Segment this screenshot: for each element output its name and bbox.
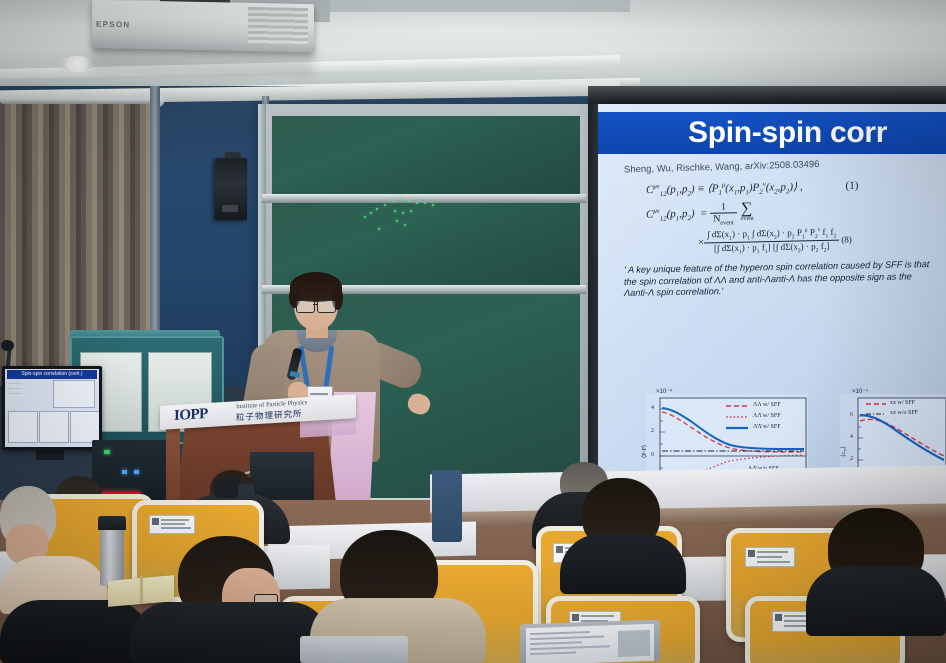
mini-chart-3 (70, 411, 99, 443)
projector-brand-label: EPSON (96, 20, 131, 30)
slide-title-text: Spin-spin corr (598, 112, 946, 154)
laptop-screen-thumbnail (618, 630, 650, 657)
eyeglasses-left-lens (296, 300, 315, 313)
chart-left-legend-2: Λ̄Λ̄ w/ SFF (753, 424, 781, 430)
speaker-logo (222, 205, 238, 212)
audience-shoulders-row2-right (806, 566, 946, 636)
iopp-logo: IOPP (174, 406, 208, 425)
thermos-flask[interactable] (100, 524, 124, 586)
thermos-cap[interactable] (98, 516, 126, 530)
chalkboard-panel-top (272, 116, 580, 194)
equation-8-line2: × ∫ dΣ(x1) · p1 ∫ dΣ(x2) · p2 P1μ P2ν f1… (698, 225, 946, 257)
chart-right-legend-0: xx w/ SFF (890, 400, 915, 406)
projector-vent (248, 7, 308, 46)
chart-right-ylabel: ⟨cₐₐ⟩ (840, 446, 847, 457)
equation-1: Cμν12(p1,p2) ≡ ⟨P1μ(x1,p1)P2ν(x2,p2)⟩ , … (646, 177, 946, 198)
audience-coat-left-dark (0, 600, 150, 663)
camera-device[interactable] (214, 478, 240, 498)
chart-left-legend-lines (726, 402, 750, 436)
slide-quote: ' A key unique feature of the hyperon sp… (624, 259, 930, 299)
chart-right-legend-lines (866, 400, 888, 422)
chair-tag-b2 (745, 547, 795, 567)
chair-tag-icon (748, 550, 755, 557)
presenter-monitor[interactable]: Spin-spin correlation (cont.) — — — — ——… (2, 366, 102, 450)
chair-tag-icon (572, 614, 579, 621)
audience-shoulders-row2-left (560, 534, 686, 594)
eyeglasses-bridge (313, 304, 318, 305)
laptop-secondary[interactable] (300, 636, 408, 663)
slide-reference: Sheng, Wu, Rischke, Wang, arXiv:2508.034… (624, 156, 946, 176)
institute-name-chinese: 粒子物理研究所 (236, 407, 303, 423)
projected-slide: Spin-spin corr Sheng, Wu, Rischke, Wang,… (598, 104, 946, 484)
presenter-monitor-title: Spin-spin correlation (cont.) (7, 370, 97, 379)
mini-chart-2 (39, 411, 69, 443)
ceiling-seam-2 (330, 0, 630, 12)
chair-tag-icon (152, 518, 159, 525)
equation-1-number: (1) (846, 180, 859, 192)
led-blue (122, 470, 127, 474)
led-green (104, 450, 110, 454)
monitor-stand (36, 450, 64, 460)
projection-screen-housing (588, 86, 946, 106)
mini-chart-top (53, 380, 95, 408)
chair-tag-icon (775, 614, 782, 621)
slide-title-bar: Spin-spin corr (598, 112, 946, 154)
equation-8-line1: Cμν12(p1,p2) = 1 Nevent ∑event (646, 197, 946, 228)
chart-left-legend-0: ΛΛ w/ SFF (753, 402, 781, 408)
curtain-rod (0, 98, 160, 104)
chair-tag-icon (556, 546, 563, 553)
presenter-monitor-screen: Spin-spin correlation (cont.) — — — — ——… (5, 369, 99, 447)
chair-tag-a2 (149, 515, 195, 534)
ceiling-downlight (60, 56, 94, 72)
notebook-spine (140, 576, 143, 604)
microphone-icon (1, 340, 14, 351)
chalk-writing (362, 194, 452, 232)
chart-right-legend-1: xx w/o SFF (890, 410, 918, 416)
standing-person-legs (432, 470, 462, 542)
laptop-screen (526, 624, 654, 663)
chart-left-ylabel: ⟨P·P⟩ (641, 445, 648, 458)
eyeglasses-right-lens (317, 300, 336, 313)
chart-right-exponent: ×10⁻⁴ (852, 388, 868, 395)
camera-lens (238, 484, 254, 498)
chart-left-legend-1: ΛΛ̄ w/ SFF (753, 413, 781, 419)
slide-body: Sheng, Wu, Rischke, Wang, arXiv:2508.034… (598, 154, 946, 484)
chart-left-exponent: ×10⁻⁴ (656, 388, 672, 395)
lecture-hall-photo: EPSON Spin-spin correlation (cont.) — — … (0, 0, 946, 663)
led-blue-2 (134, 470, 139, 474)
mini-chart-1 (8, 411, 38, 443)
